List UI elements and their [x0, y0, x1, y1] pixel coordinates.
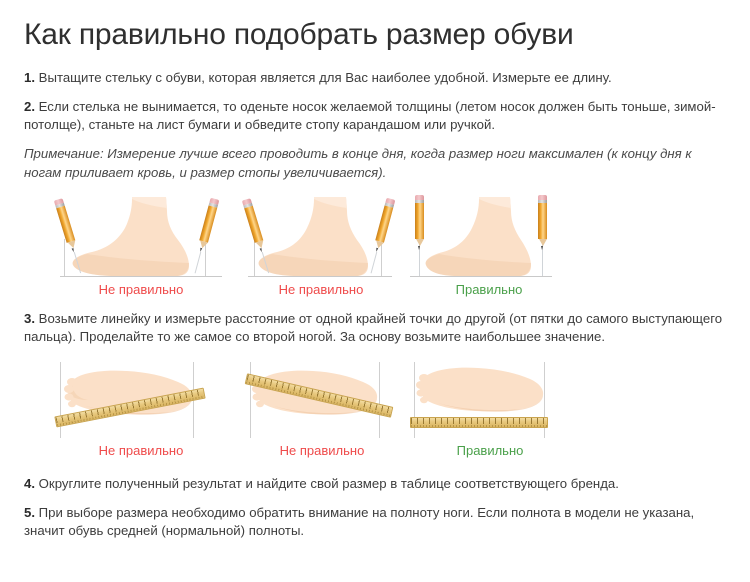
- step-3-number: 3.: [24, 311, 35, 326]
- ruler-ticks-minor: [411, 425, 547, 428]
- figure-top-wrong-2-art: [236, 362, 408, 438]
- figure-top-correct-art: [408, 362, 568, 438]
- instruction-page: Как правильно подобрать размер обуви 1. …: [0, 18, 750, 582]
- steps-group-top: 1. Вытащите стельку с обуви, которая явл…: [24, 69, 726, 183]
- pencil-body: [415, 203, 424, 239]
- page-title: Как правильно подобрать размер обуви: [24, 18, 726, 53]
- step-5-number: 5.: [24, 505, 35, 520]
- baseline: [248, 276, 392, 277]
- step-3: 3. Возьмите линейку и измерьте расстояни…: [24, 310, 724, 346]
- step-4-number: 4.: [24, 476, 35, 491]
- figure-profile-correct-art: [406, 195, 566, 277]
- pencil-line: [542, 250, 543, 277]
- steps-group-middle: 3. Возьмите линейку и измерьте расстояни…: [24, 310, 726, 346]
- baseline: [60, 276, 222, 277]
- figure-top-wrong-2: Не правильно: [236, 362, 408, 457]
- figure-caption-wrong: Не правильно: [236, 277, 406, 296]
- figure-top-correct: Правильно: [408, 362, 568, 457]
- figure-caption-correct: Правильно: [408, 438, 568, 457]
- pencil-body: [538, 203, 547, 239]
- pencil-line: [419, 250, 420, 277]
- figure-profile-correct: Правильно: [406, 195, 566, 296]
- figure-profile-wrong-2: Не правильно: [236, 195, 406, 296]
- figure-caption-correct: Правильно: [406, 277, 566, 296]
- step-3-text: Возьмите линейку и измерьте расстояние о…: [24, 311, 722, 344]
- step-2-text: Если стелька не вынимается, то оденьте н…: [24, 99, 716, 132]
- figure-top-wrong-1-art: [46, 362, 236, 438]
- ruler-icon: [410, 417, 548, 428]
- step-4: 4. Округлите полученный результат и найд…: [24, 475, 724, 493]
- figure-profile-wrong-2-art: [236, 195, 406, 277]
- step-1-text: Вытащите стельку с обуви, которая являет…: [35, 70, 612, 85]
- figure-top-wrong-1: Не правильно: [46, 362, 236, 457]
- step-1-number: 1.: [24, 70, 35, 85]
- figure-caption-wrong: Не правильно: [46, 438, 236, 457]
- baseline: [410, 276, 552, 277]
- figure-row-profile: Не правильно: [24, 196, 726, 296]
- pencil-right-icon: [538, 195, 547, 251]
- figure-caption-wrong: Не правильно: [46, 277, 236, 296]
- step-5: 5. При выборе размера необходимо обратит…: [24, 504, 724, 540]
- figure-caption-wrong: Не правильно: [236, 438, 408, 457]
- step-1: 1. Вытащите стельку с обуви, которая явл…: [24, 69, 724, 87]
- figure-row-top: Не правильно Не прав: [24, 365, 726, 457]
- figure-profile-wrong-1: Не правильно: [46, 195, 236, 296]
- pencil-wood-tip: [539, 239, 547, 246]
- ruler-ticks-major: [411, 418, 547, 424]
- step-5-text: При выборе размера необходимо обратить в…: [24, 505, 694, 538]
- figure-profile-wrong-1-art: [46, 195, 236, 277]
- pencil-wood-tip: [416, 239, 424, 246]
- note-text: Примечание: Измерение лучше всего провод…: [24, 145, 724, 182]
- step-2: 2. Если стелька не вынимается, то оденьт…: [24, 98, 724, 134]
- step-2-number: 2.: [24, 99, 35, 114]
- steps-group-bottom: 4. Округлите полученный результат и найд…: [24, 475, 726, 541]
- pencil-left-icon: [415, 195, 424, 251]
- step-4-text: Округлите полученный результат и найдите…: [35, 476, 619, 491]
